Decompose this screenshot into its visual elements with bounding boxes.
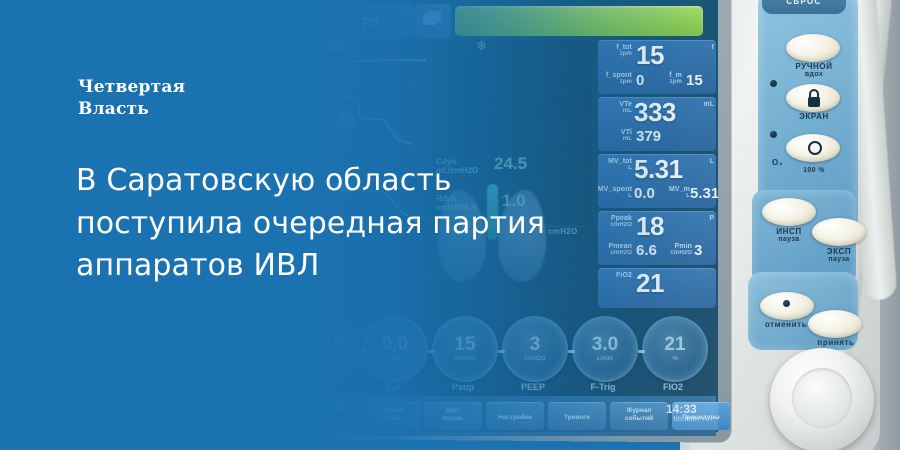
insp-pause-line1: ИНСП [776,227,801,236]
exp-pause-line1: ЭКСП [827,247,851,256]
site-logo[interactable]: Четвертая Власть [78,76,185,121]
knob-label-ftrig: F-Trig [568,382,638,392]
bottom-button-alarms-label: Тревоги [564,414,590,421]
measurement-value-vte: 333 [634,97,676,128]
vti-label: VTi [621,129,632,136]
glare-blob [336,112,356,129]
measurement-value-f-tot: 15 [636,40,664,71]
manual-breath-line2: вдох [772,71,856,79]
measurement-label-vti: VTi mL [592,129,632,143]
measurement-value-ppeak: 18 [636,211,664,242]
manual-breath-line1: РУЧНОЙ [795,62,832,71]
waveform-label-paw: Paw (cmH2O) [182,42,237,51]
bottom-button-event-log[interactable]: Журнал событий [610,402,668,430]
measurement-value-mv-spont: 0.0 [634,185,655,202]
patient-card-icon [422,11,444,31]
knob-value-ftrig: 3.0 [574,334,636,356]
measurement-value-f-spont: 0 [636,72,644,89]
exp-pause-line2: пауза [806,256,872,264]
knob-tick [568,350,575,353]
bottom-button-alarms[interactable]: Тревоги [548,402,606,430]
knob-tick [218,350,225,353]
knob-tpl[interactable]: 0.0 sec [362,316,428,382]
o2-flush-line1: O₂ [772,158,783,167]
mv-m-unit: L [658,193,690,199]
vti-unit: mL [592,136,632,142]
measurement-value-pmean: 6.6 [636,242,657,259]
knob-unit-ti: sec [294,356,356,362]
patient-weight-unit: kg [330,415,344,424]
reset-button[interactable]: СБРОС [762,0,846,14]
knob-value-fio2: 21 [644,334,706,356]
clock-time: 14:33 [666,402,697,416]
exp-pause-button[interactable] [812,218,866,246]
mv-m-label: MV_m [669,186,690,193]
knob-label-ti: Ti [288,382,358,392]
knob-tick [428,350,435,353]
knob-label-tpl: Tpl [358,382,428,392]
knob-psup[interactable]: 15 cmH2O [432,316,498,382]
insp-pause-line2: пауза [756,236,822,244]
accept-label: принять [800,338,872,347]
accept-text: принять [817,338,854,347]
patient-data-button[interactable] [415,4,451,38]
knob-fio2[interactable]: 21 % [642,316,708,382]
knob-unit-ftrig: L/min [574,356,636,362]
measurement-corner-l: L [696,158,714,165]
bottom-button-screenshot[interactable]: Снимок экрана [362,402,420,430]
article-headline[interactable]: В Саратовскую область поступила очередна… [76,160,616,288]
screen-lock-led [770,80,777,87]
bottom-button-settings-label: Настройки [498,414,532,421]
knob-unit-tpl: sec [364,356,426,362]
f-tot-unit: 1pm [590,51,632,57]
pmin-label: Pmin [674,243,692,250]
measurement-corner-p: P [696,215,714,222]
measurement-label-mv-m: MV_m L [658,186,690,200]
knob-label-f: f [148,382,218,392]
manual-breath-button[interactable] [786,34,840,62]
vent-mode-label: SIMV [186,12,230,33]
site-logo-line2: Власть [78,99,149,119]
knob-value-tpl: 0.0 [364,334,426,356]
bottom-button-settings[interactable]: Настройки [486,402,544,430]
knob-tick [358,350,365,353]
exp-pause-label: ЭКСП пауза [806,247,872,264]
o2-icon [806,139,824,157]
manual-breath-label: РУЧНОЙ вдох [772,62,856,79]
vte-unit: mL [592,108,632,114]
knob-unit-peep: cmH2O [504,356,566,362]
knob-value-vt: 400 [224,334,286,356]
cancel-text: отменить [765,320,807,329]
knob-vt[interactable]: 400 mL [222,316,288,382]
vent-control-label: VC [291,15,309,30]
fio2-label: FiO2 [616,272,632,279]
screen-lock-line1: ЭКРАН [799,112,829,121]
bottom-button-event-log-line1: Журнал [626,407,651,414]
measurement-label-vte: VTe mL [592,101,632,115]
knob-label-peep: PEEP [498,382,568,392]
measurement-value-pmin: 3 [694,242,702,259]
knob-label-vt: VT [218,382,288,392]
vent-support-label: PS [362,15,379,30]
clock-display: 14:33 hh:mm [666,402,697,423]
o2-flush-line2: 100 % [772,167,856,175]
patient-circle-icon: C [144,400,163,431]
knob-tick [288,350,295,353]
measurement-value-mv-tot: 5.31 [634,154,683,185]
measurement-label-f-tot: f_tot 1pm [590,44,632,58]
cancel-indicator [783,300,790,307]
measurement-value-f-m: 15 [686,72,703,89]
o2-flush-label: O₂ 100 % [772,158,856,175]
measurement-label-pmin: Pmin cmH2O [660,243,692,257]
measurement-value-mv-m: 5.31 [690,185,718,202]
screenshot-stage: Paw (cmH2O) Flow (lpm) Vt (ml) cmH2O ❄ ❄… [0,0,900,450]
knob-tick [148,350,155,353]
knob-value-psup: 15 [434,334,496,356]
knob-unit-f: 1pm [154,356,216,362]
patient-name-field[interactable]: Без имени [178,408,214,415]
patient-weight: 60 kg [330,400,344,424]
f-spont-label: f_spont [606,72,632,79]
main-rotary-knob[interactable] [770,348,874,450]
alarm-hint-label: ОРАС [278,420,297,427]
snowflake-icon: ❄ [292,38,303,54]
bottom-button-event-log-line2: событий [625,415,653,422]
glare-blob [326,38,344,53]
knob-label-psup: Psup [428,382,498,392]
bottom-button-extra-params-line2: парам. [442,415,464,422]
clock-unit: hh:mm [666,416,697,423]
vte-label: VTe [619,101,632,108]
knob-value-f: 15 [154,334,216,356]
f-spont-unit: 1pm [584,79,632,85]
knob-f[interactable]: 15 1pm [152,316,218,382]
knob-tick [638,350,645,353]
bottom-button-screenshot-line1: Снимок [379,407,404,414]
measurement-corner-f: f [696,44,714,51]
snowflake-icon: ❄ [476,38,487,54]
measurement-value-vti: 379 [636,128,661,145]
f-tot-label: f_tot [616,44,632,51]
measurement-value-fio2: 21 [636,268,664,299]
knob-ftrig[interactable]: 3.0 L/min [572,316,638,382]
insp-pause-button[interactable] [762,198,816,226]
knob-value-peep: 3 [504,334,566,356]
knob-unit-vt: mL [224,356,286,362]
bottom-button-extra-params-line1: Доп. [446,407,460,414]
knob-tick [498,350,505,353]
bottom-button-extra-params[interactable]: Доп. парам. [424,402,482,430]
waveform-label-flow: Flow (lpm) [182,108,225,117]
measurement-label-f-m: f_m 1pm [656,72,682,86]
knob-unit-psup: cmH2O [434,356,496,362]
f-m-label: f_m [669,72,682,79]
alarm-status-bar [455,6,703,36]
reset-label: СБРОС [762,0,846,6]
screen-lock-label: ЭКРАН [772,112,856,121]
knob-ti[interactable]: 1.10 sec [292,316,358,382]
bottom-button-screenshot-line2: экрана [380,415,402,422]
accept-button[interactable] [808,310,862,338]
patient-mode-icon [156,8,181,35]
site-logo-line1: Четвертая [78,77,185,97]
knob-unit-fio2: % [644,356,706,362]
lock-icon [806,88,822,108]
measurement-label-f-spont: f_spont 1pm [584,72,632,86]
patient-weight-value: 60 [330,400,344,415]
patient-figure-icon [306,400,322,430]
knob-value-ti: 1.10 [294,334,356,356]
o2-flush-led [770,131,777,138]
knob-peep[interactable]: 3 cmH2O [502,316,568,382]
knob-label-fio2: FIO2 [638,382,708,392]
f-m-unit: 1pm [656,79,682,85]
pmin-unit: cmH2O [660,250,692,256]
measurement-corner-ml: mL [696,101,714,108]
